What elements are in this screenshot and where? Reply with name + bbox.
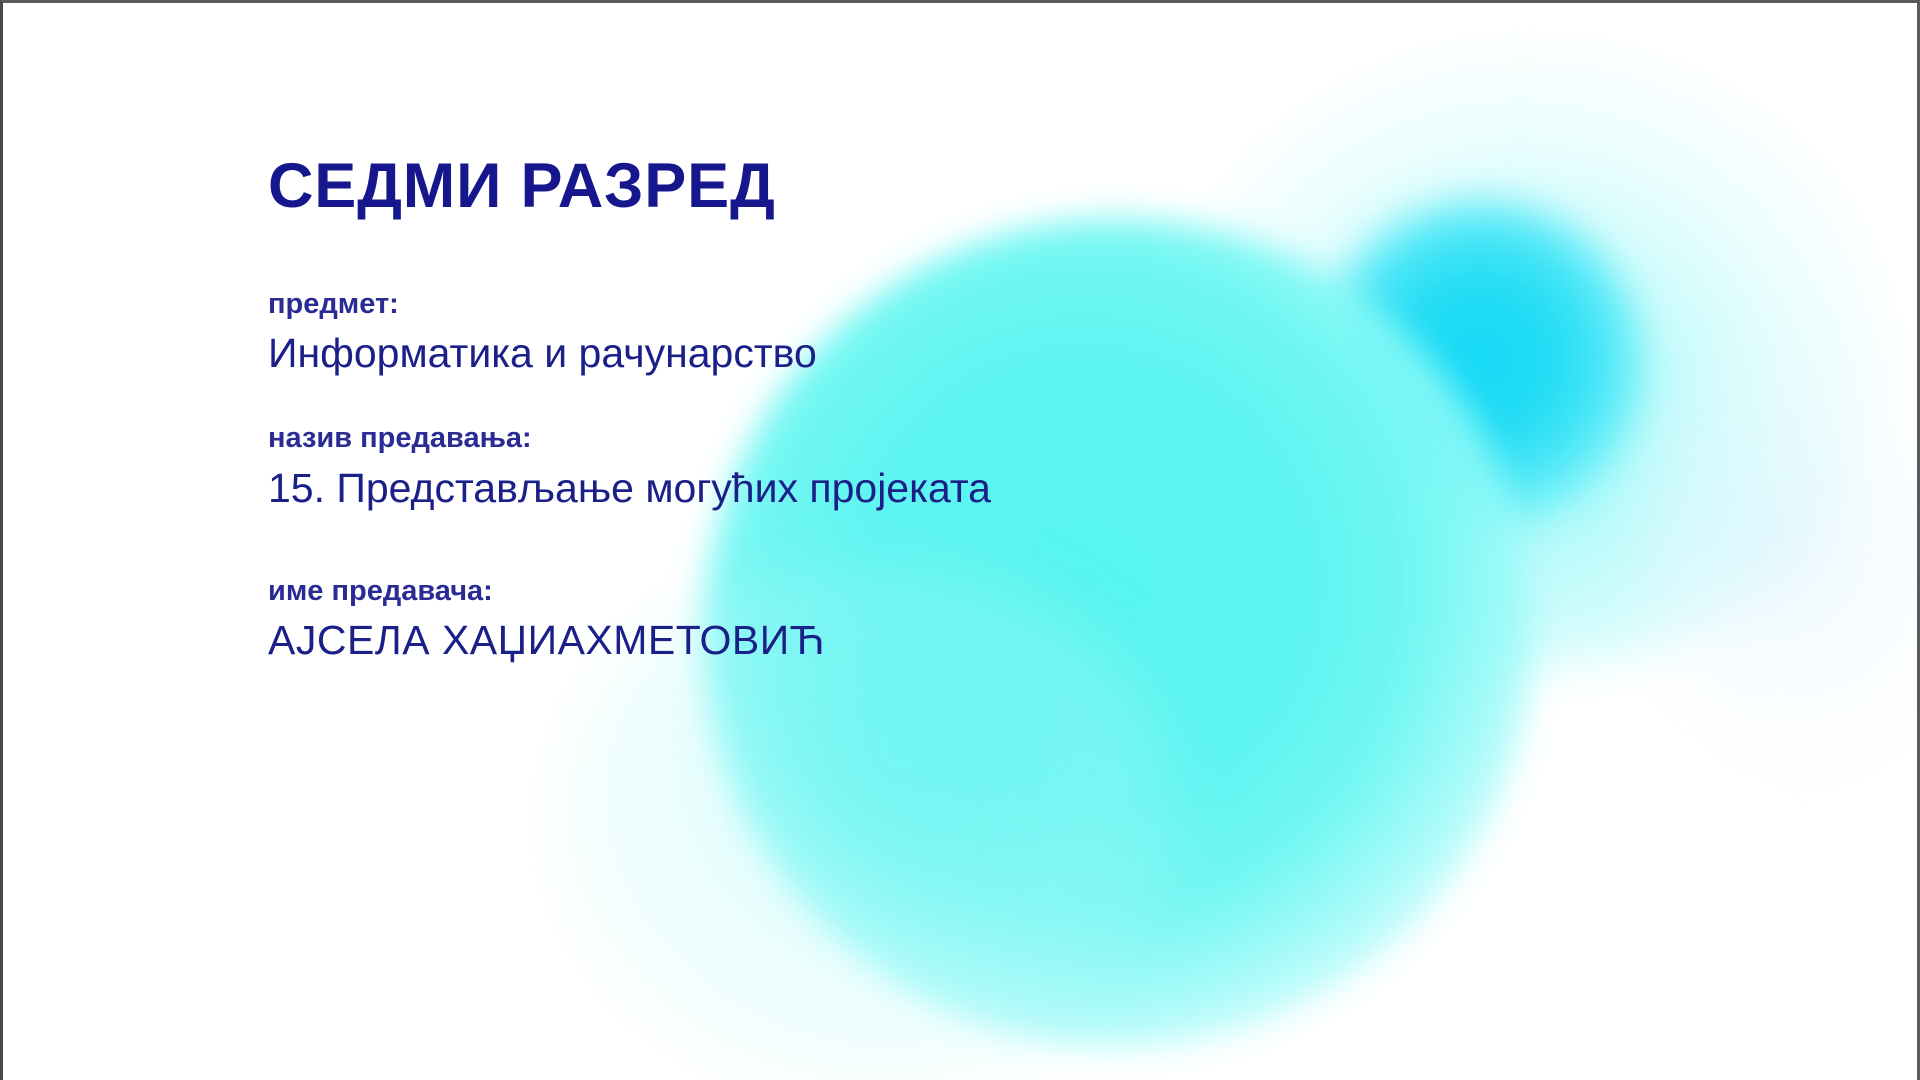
- field-lecture-title-label: назив предавања:: [268, 420, 1518, 456]
- pale-edge-wash-icon: [1643, 333, 1920, 763]
- field-lecture-title: назив предавања: 15. Представљање могући…: [268, 420, 1518, 512]
- slide-content: СЕДМИ РАЗРЕД предмет: Информатика и рачу…: [268, 155, 1518, 665]
- field-instructor-label: име предавача:: [268, 573, 1518, 609]
- field-subject: предмет: Информатика и рачунарство: [268, 286, 1518, 378]
- page-title: СЕДМИ РАЗРЕД: [268, 155, 1518, 218]
- field-lecture-title-value: 15. Представљање могућих пројеката: [268, 464, 1518, 513]
- field-subject-label: предмет:: [268, 286, 1518, 322]
- field-instructor: име предавача: АЈСЕЛА ХАЏИАХМЕТОВИЋ: [268, 573, 1518, 665]
- field-subject-value: Информатика и рачунарство: [268, 329, 1518, 378]
- field-instructor-value: АЈСЕЛА ХАЏИАХМЕТОВИЋ: [268, 616, 1518, 665]
- title-slide: СЕДМИ РАЗРЕД предмет: Информатика и рачу…: [0, 0, 1920, 1080]
